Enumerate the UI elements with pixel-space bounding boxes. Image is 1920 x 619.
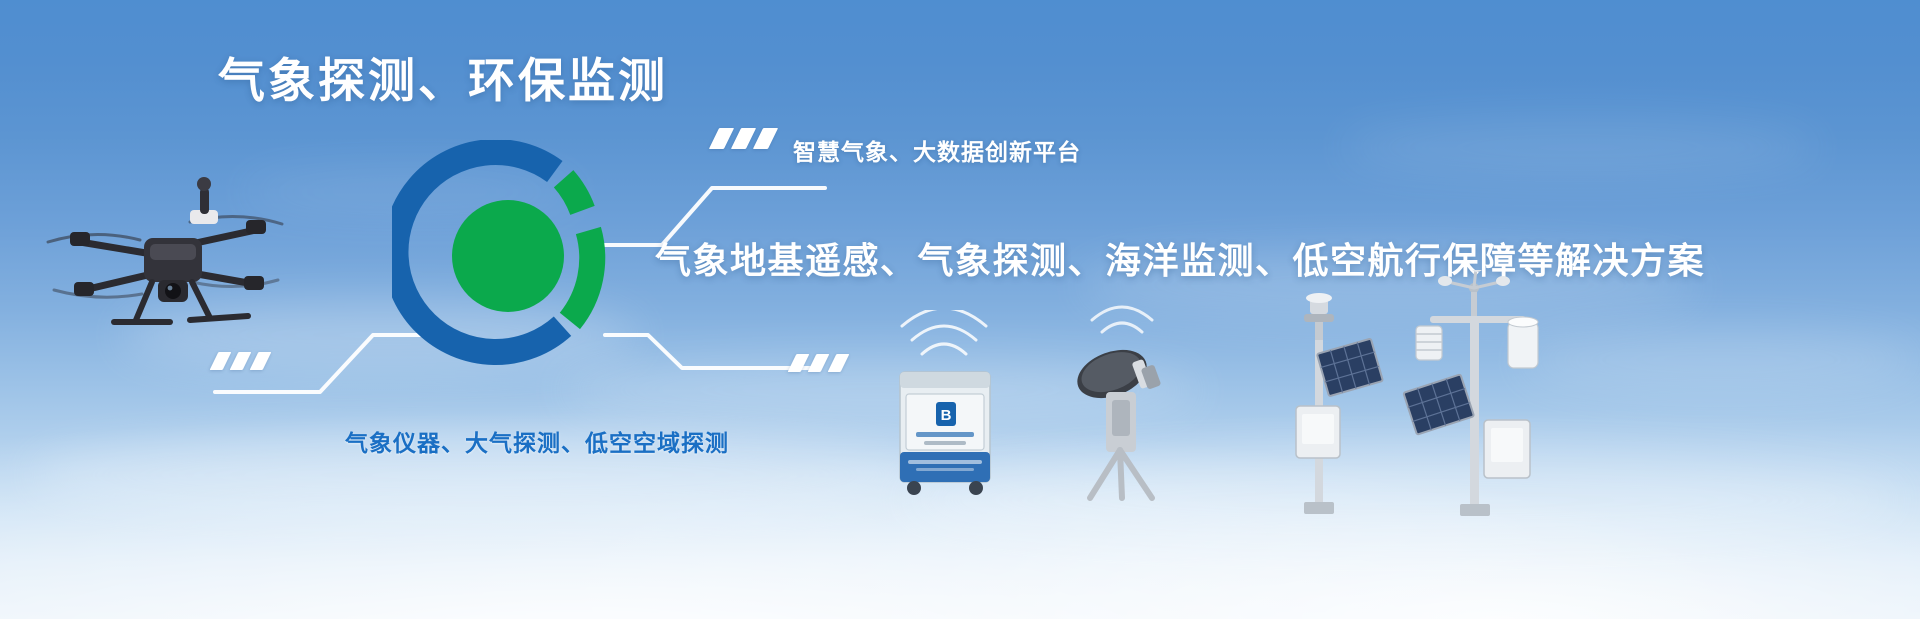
ring-logo-graphic	[392, 140, 624, 372]
callout-bottom-left: 气象仪器、大气探测、低空空域探测	[345, 424, 729, 458]
cloud-wisp	[1520, 330, 1920, 390]
slash-marks-bottom-right	[792, 354, 845, 372]
banner-root: 气象探测、环保监测 智	[0, 0, 1920, 619]
cloud-wisp	[1340, 120, 1820, 175]
callout-top-right: 智慧气象、大数据创新平台	[793, 133, 1081, 167]
slash-marks-bottom-left	[214, 352, 267, 370]
page-title: 气象探测、环保监测	[218, 52, 668, 110]
drone-icon	[40, 150, 290, 350]
svg-text:B: B	[941, 407, 952, 424]
satellite-dish-icon	[1060, 300, 1190, 510]
laser-radar-cabinet-icon: B	[886, 310, 1006, 510]
solar-sensor-post-icon	[1278, 290, 1388, 520]
slash-marks-top-right	[714, 128, 773, 149]
weather-station-icon	[1400, 270, 1550, 520]
